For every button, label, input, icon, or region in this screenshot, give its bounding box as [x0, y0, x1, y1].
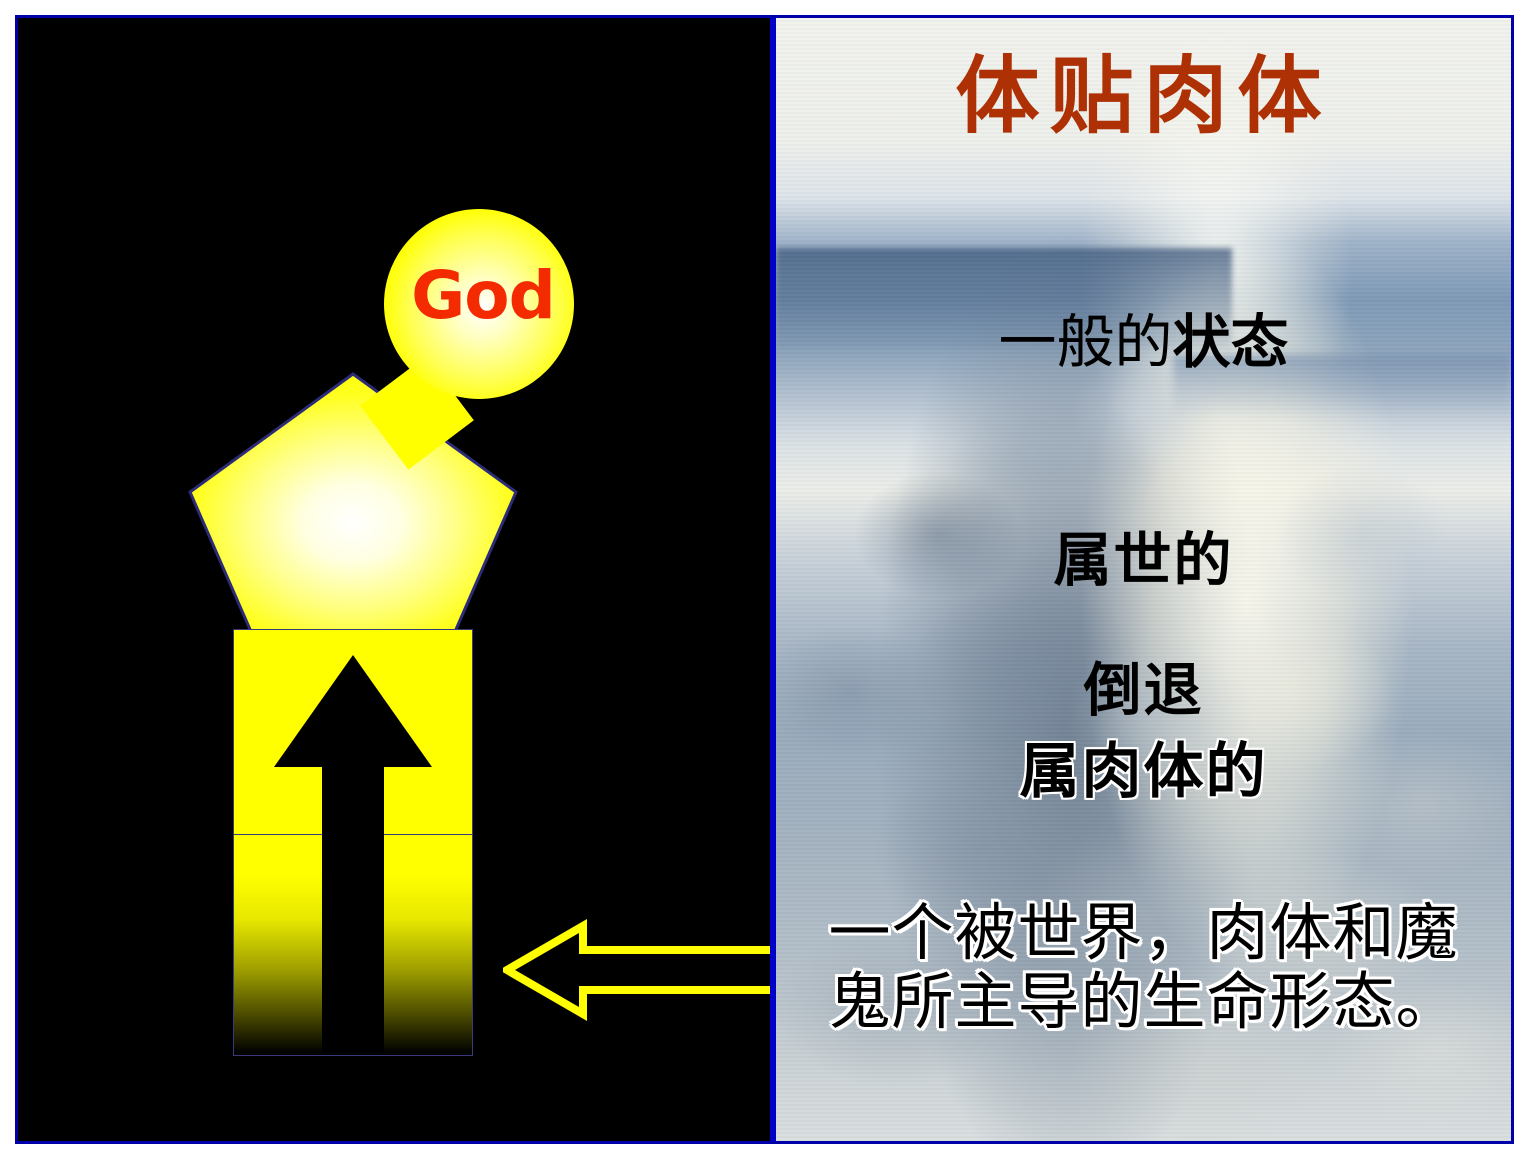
summary-paragraph-line2: 鬼所主导的生命形态。 [786, 967, 1501, 1036]
volcano-photo-panel: 体贴肉体 一般的状态 属世的 倒退 属肉体的 一个被世界，肉体和魔 鬼所主导的生… [776, 18, 1511, 1141]
slide-frame: God 体贴肉体 一般的状态 [15, 15, 1514, 1144]
pentagon-body [186, 370, 520, 638]
summary-paragraph: 一个被世界，肉体和魔 鬼所主导的生命形态。 [786, 898, 1501, 1037]
panel-divider [770, 18, 776, 1141]
state-carnal: 属肉体的 [776, 723, 1511, 810]
black-up-arrow-icon [274, 655, 432, 1055]
state-normal-line: 一般的状态 [776, 308, 1511, 378]
photo-text-layer: 体贴肉体 一般的状态 属世的 倒退 属肉体的 一个被世界，肉体和魔 鬼所主导的生… [776, 18, 1511, 1141]
state-worldly: 属世的 [776, 513, 1511, 597]
state-backslide: 倒退 [776, 643, 1511, 727]
god-sphere: God [384, 209, 574, 399]
yellow-left-arrow-icon [503, 916, 770, 1024]
state-normal-bold: 状态 [1173, 308, 1289, 376]
god-label: God [411, 263, 555, 329]
summary-paragraph-line1: 一个被世界，肉体和魔 [828, 896, 1458, 969]
slide-title: 体贴肉体 [776, 50, 1511, 142]
state-normal-light: 一般的 [998, 308, 1172, 376]
diagram-panel: God [18, 18, 770, 1141]
